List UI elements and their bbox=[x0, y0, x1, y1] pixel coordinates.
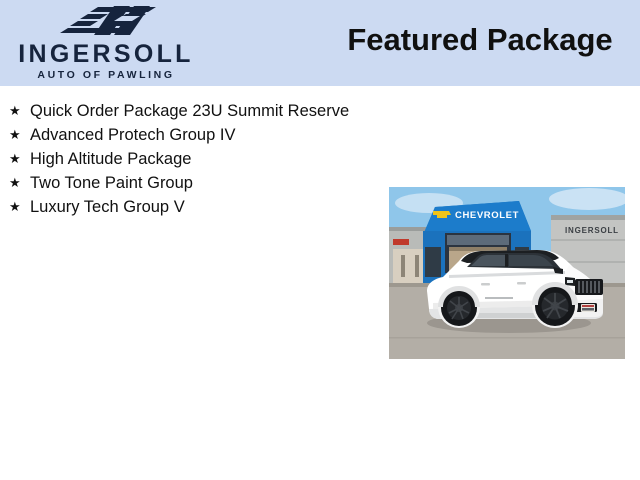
page-title: Featured Package bbox=[330, 22, 630, 58]
list-item-label: Two Tone Paint Group bbox=[30, 172, 370, 194]
brand-name: INGERSOLL bbox=[0, 42, 212, 67]
list-item-label: Luxury Tech Group V bbox=[30, 196, 370, 218]
brand-tagline: AUTO OF PAWLING bbox=[0, 70, 212, 81]
list-item: ★ High Altitude Package bbox=[0, 148, 370, 172]
list-item: ★ Luxury Tech Group V bbox=[0, 196, 370, 220]
svg-text:INGERSOLL: INGERSOLL bbox=[565, 226, 619, 235]
star-bullet-icon: ★ bbox=[9, 100, 21, 122]
list-item: ★ Advanced Protech Group IV bbox=[0, 124, 370, 148]
list-item: ★ Two Tone Paint Group bbox=[0, 172, 370, 196]
brand-lockup: INGERSOLL AUTO OF PAWLING bbox=[0, 4, 212, 82]
star-bullet-icon: ★ bbox=[9, 148, 21, 170]
list-item: ★ Quick Order Package 23U Summit Reserve bbox=[0, 100, 370, 124]
list-item-label: Advanced Protech Group IV bbox=[30, 124, 370, 146]
star-bullet-icon: ★ bbox=[9, 172, 21, 194]
list-item-label: High Altitude Package bbox=[30, 148, 370, 170]
header-band: INGERSOLL AUTO OF PAWLING Featured Packa… bbox=[0, 0, 640, 86]
vehicle-photo: INGERSOLL CHEVROLET bbox=[389, 187, 625, 359]
list-item-label: Quick Order Package 23U Summit Reserve bbox=[30, 100, 370, 122]
star-bullet-icon: ★ bbox=[9, 124, 21, 146]
feature-package-list: ★ Quick Order Package 23U Summit Reserve… bbox=[0, 100, 370, 220]
svg-text:CHEVROLET: CHEVROLET bbox=[455, 210, 519, 221]
star-bullet-icon: ★ bbox=[9, 196, 21, 218]
ingersoll-wing-emblem-icon bbox=[52, 6, 160, 36]
